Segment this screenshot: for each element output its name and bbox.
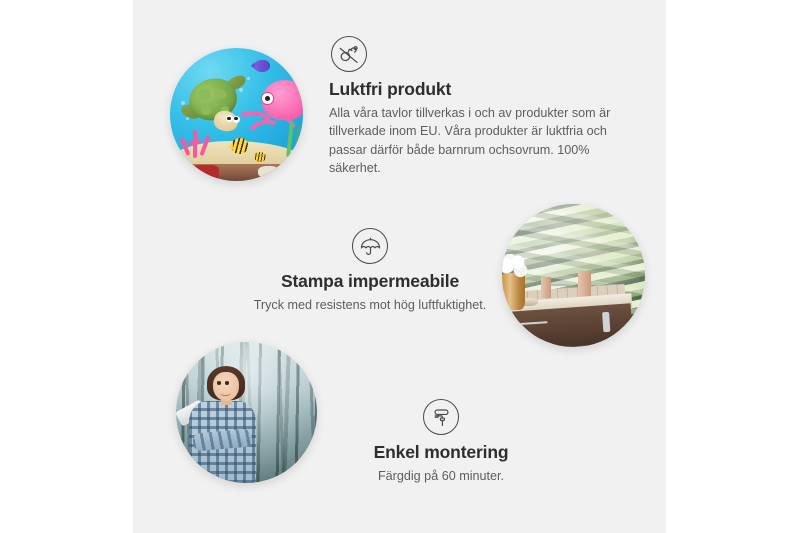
no-fragrance-icon	[331, 36, 367, 72]
eyes	[217, 381, 221, 384]
purple-fish-icon	[254, 60, 270, 72]
feature-description: Tryck med resistens mot hög luftfuktighe…	[215, 296, 525, 314]
paint-roller-icon	[423, 399, 459, 435]
octopus-eye	[261, 92, 274, 105]
candle-icon	[578, 271, 591, 298]
candle-icon	[541, 277, 551, 298]
smile	[220, 391, 231, 396]
feature-odourless: Luktfri produkt Alla våra tavlor tillver…	[329, 36, 634, 177]
feature-waterproof: Stampa impermeabile Tryck med resistens …	[215, 228, 525, 314]
screenshot-root: Luktfri produkt Alla våra tavlor tillver…	[0, 0, 800, 533]
feature-description: Färgdig på 60 minuter.	[331, 467, 551, 485]
umbrella-icon	[352, 228, 388, 264]
feature-mounting: Enkel montering Färgdig på 60 minuter.	[331, 399, 551, 485]
product-image-underwater-scene[interactable]	[170, 48, 303, 181]
product-image-painter-forest[interactable]	[176, 342, 317, 483]
turtle-eye	[226, 115, 233, 122]
feature-title: Enkel montering	[331, 442, 551, 462]
coral-icon	[178, 122, 214, 158]
content-panel: Luktfri produkt Alla våra tavlor tillver…	[133, 0, 666, 533]
feature-description: Alla våra tavlor tillverkas i och av pro…	[329, 104, 634, 177]
feature-title: Luktfri produkt	[329, 79, 634, 99]
small-fish-icon	[254, 152, 266, 163]
sea-floor-strip	[183, 164, 289, 181]
feature-title: Stampa impermeabile	[215, 271, 525, 291]
